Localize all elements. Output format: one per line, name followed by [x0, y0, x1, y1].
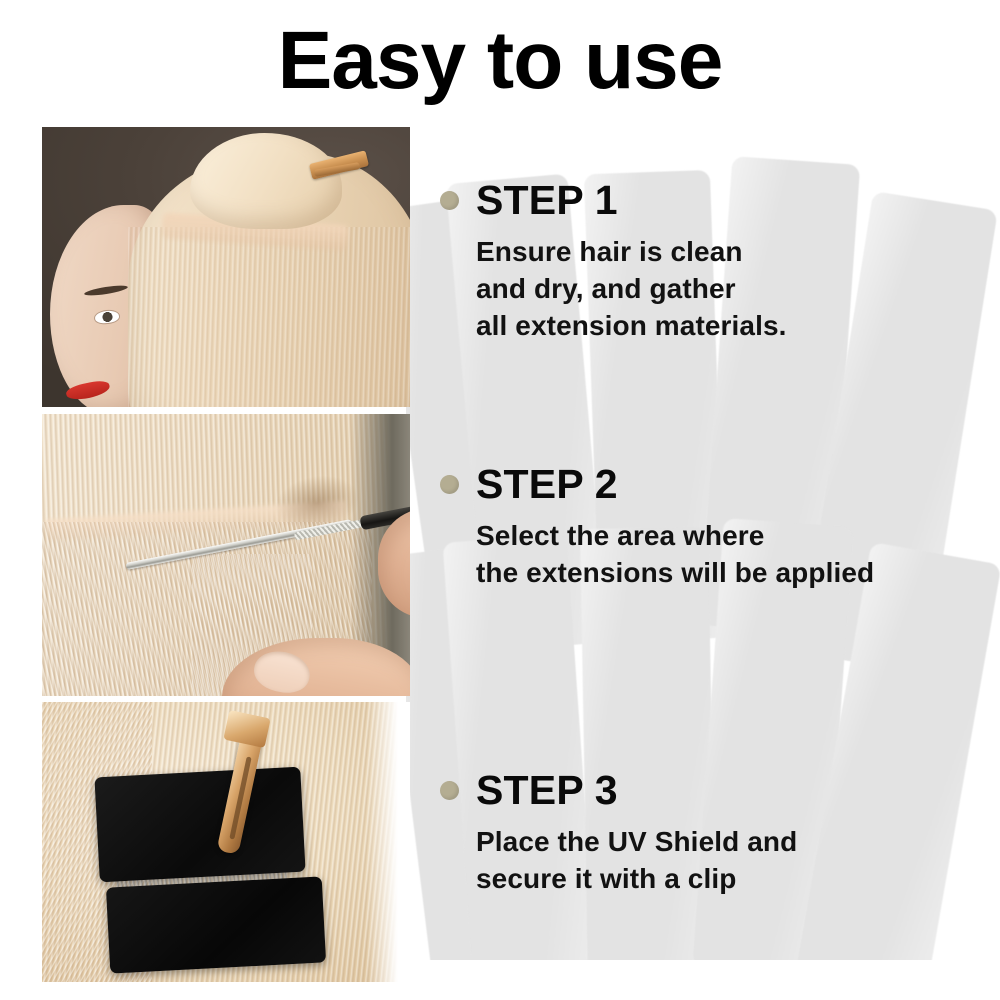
step-2-body: Select the area where the extensions wil… [476, 517, 874, 591]
photo-1-content [42, 127, 410, 407]
hair-strand-texture [128, 227, 410, 407]
step-2-title: STEP 2 [476, 462, 618, 507]
photo-2-content [42, 414, 410, 696]
bullet-dot-icon [440, 191, 459, 210]
step-block-3: STEP 3 Place the UV Shield and secure it… [440, 768, 797, 897]
step-1-title: STEP 1 [476, 178, 618, 223]
promo-graphic-root: Easy to use [0, 0, 1000, 1000]
photo-step-2-sectioning-hair [42, 414, 410, 696]
photo-3-right-fade [366, 702, 410, 982]
photo-step-1-mannequin-head [42, 127, 410, 407]
uv-shield-card-lower [106, 876, 326, 973]
bullet-dot-icon [440, 475, 459, 494]
step-block-2: STEP 2 Select the area where the extensi… [440, 462, 874, 591]
step-3-heading-row: STEP 3 [440, 768, 797, 813]
photo-step-3-uv-shield-with-clip [42, 702, 410, 982]
step-2-heading-row: STEP 2 [440, 462, 874, 507]
step-1-body: Ensure hair is clean and dry, and gather… [476, 233, 787, 344]
bullet-dot-icon [440, 781, 459, 800]
page-title: Easy to use [0, 14, 1000, 108]
step-3-body: Place the UV Shield and secure it with a… [476, 823, 797, 897]
step-block-1: STEP 1 Ensure hair is clean and dry, and… [440, 178, 787, 344]
uv-shield-card-upper [94, 767, 305, 883]
step-1-heading-row: STEP 1 [440, 178, 787, 223]
photo-3-content [42, 702, 410, 982]
step-3-title: STEP 3 [476, 768, 618, 813]
